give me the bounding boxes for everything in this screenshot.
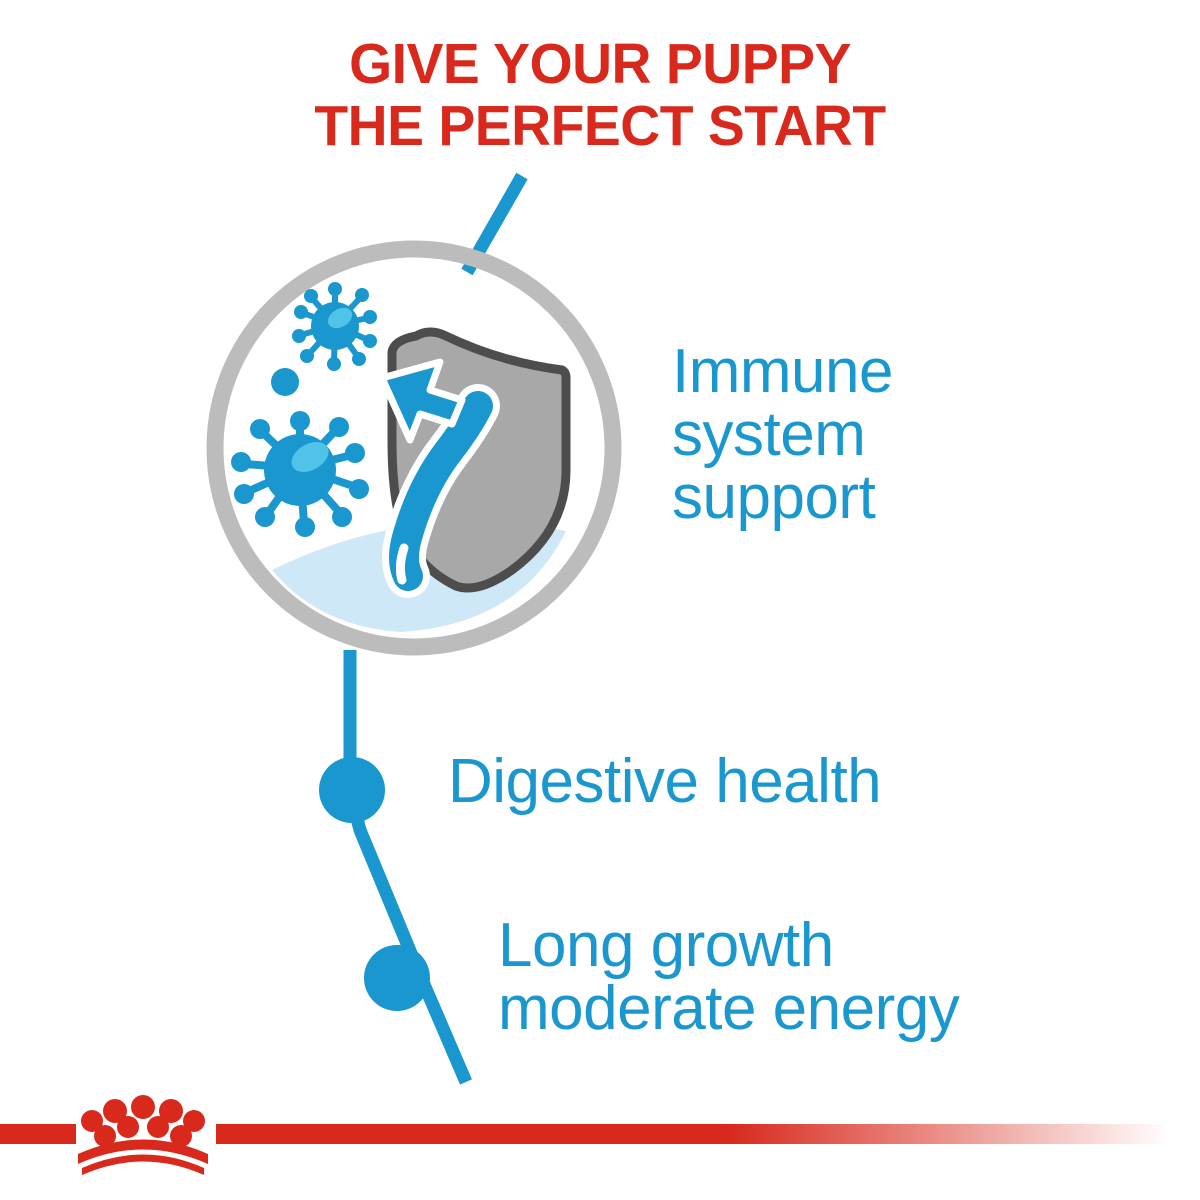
connector-node-digestive	[319, 757, 385, 823]
feature-label-growth: Long growth moderate energy	[498, 914, 959, 1040]
germ-small	[292, 282, 377, 371]
footer-red-rule-right	[216, 1124, 1200, 1144]
royal-canin-crown-logo	[78, 1095, 208, 1175]
germ-dot	[271, 368, 299, 396]
feature-label-digestive: Digestive health	[448, 750, 881, 813]
germ-large	[231, 411, 369, 537]
connector-node-growth	[364, 945, 430, 1011]
footer-red-rule-left	[0, 1124, 76, 1144]
footer	[0, 1080, 1200, 1200]
infographic-canvas: GIVE YOUR PUPPY THE PERFECT START	[0, 0, 1200, 1200]
feature-label-immune: Immune system support	[672, 340, 893, 530]
connector-line	[350, 650, 466, 1082]
